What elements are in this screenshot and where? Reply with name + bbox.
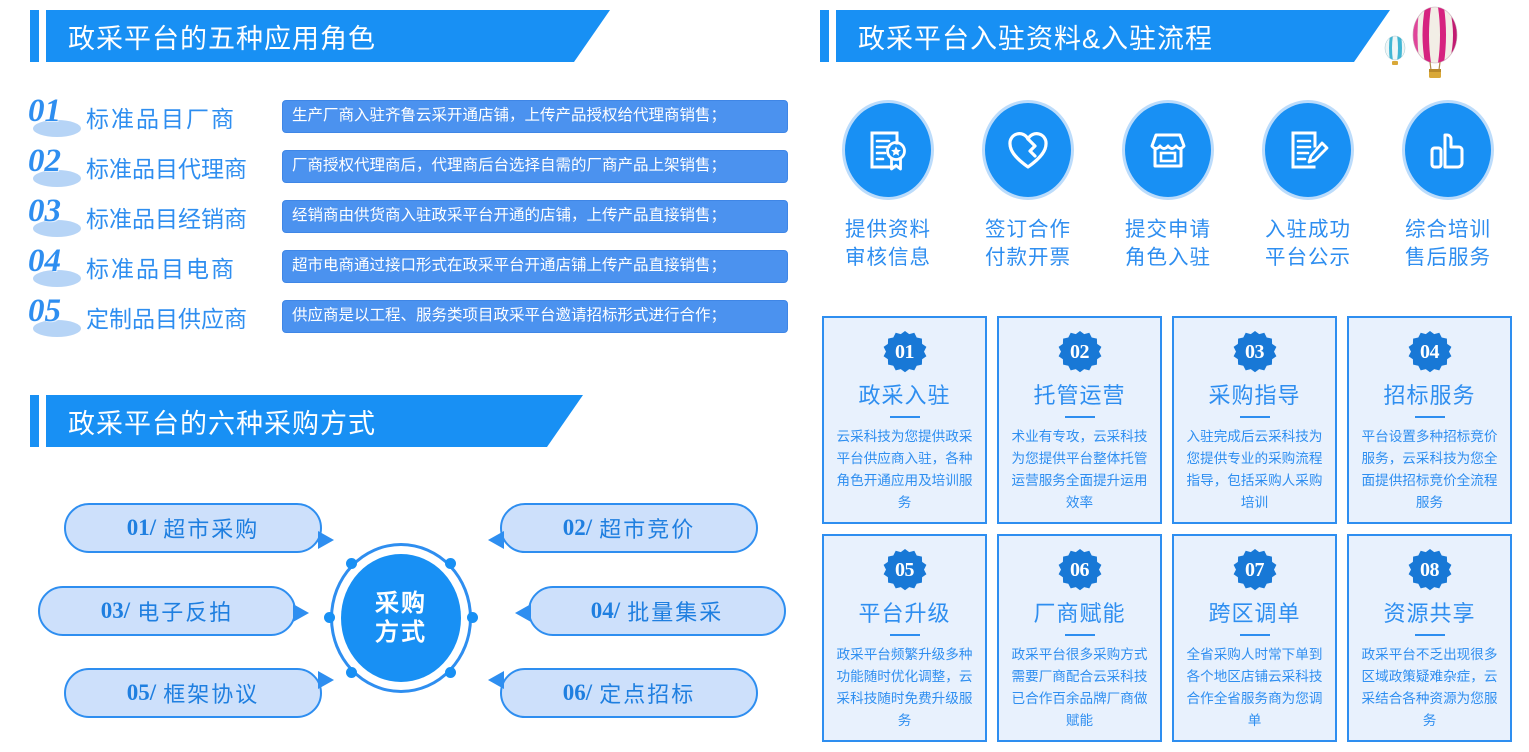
role-number: 02 bbox=[28, 143, 86, 180]
method-number: 03/ bbox=[101, 598, 130, 624]
method-number: 05/ bbox=[127, 680, 156, 706]
header-banner: 政采平台的五种应用角色 bbox=[46, 10, 610, 62]
document-edit-icon bbox=[1284, 126, 1332, 174]
flow-label-line2: 角色入驻 bbox=[1125, 244, 1211, 272]
role-row: 05 定制品目供应商 供应商是以工程、服务类项目政采平台邀请招标形式进行合作； bbox=[28, 292, 788, 341]
methods-hub: 采购 方式 bbox=[330, 543, 472, 693]
card-badge: 01 bbox=[883, 330, 927, 374]
card-divider bbox=[1415, 634, 1445, 636]
header-gap bbox=[829, 10, 836, 62]
method-pill-04[interactable]: 04/ 批量集采 bbox=[528, 586, 786, 636]
card-number: 03 bbox=[1233, 330, 1277, 374]
hub-dot-icon bbox=[324, 612, 335, 623]
certificate-icon bbox=[864, 126, 912, 174]
card-description: 入驻完成后云采科技为您提供专业的采购流程指导，包括采购人采购培训 bbox=[1174, 426, 1335, 514]
service-card[interactable]: 02 托管运营 术业有专攻，云采科技为您提供平台整体托管运营服务全面提升运用效率 bbox=[997, 316, 1162, 524]
hot-air-balloon-decoration bbox=[1378, 4, 1468, 82]
roles-list: 01 标准品目厂商 生产厂商入驻齐鲁云采开通店铺，上传产品授权给代理商销售； 0… bbox=[28, 92, 788, 342]
header-accent-bar bbox=[820, 10, 829, 62]
pill-tail-icon bbox=[293, 604, 309, 622]
role-number-badge: 05 bbox=[28, 294, 86, 340]
method-number: 06/ bbox=[563, 680, 592, 706]
method-label: 电子反拍 bbox=[137, 595, 233, 627]
flow-icon-circle bbox=[982, 100, 1074, 200]
role-number-badge: 03 bbox=[28, 194, 86, 240]
card-number: 01 bbox=[883, 330, 927, 374]
card-badge: 03 bbox=[1233, 330, 1277, 374]
method-pill-05[interactable]: 05/ 框架协议 bbox=[64, 668, 322, 718]
flow-label: 签订合作 付款开票 bbox=[985, 216, 1071, 272]
role-number-badge: 04 bbox=[28, 244, 86, 290]
card-title: 平台升级 bbox=[858, 596, 950, 628]
card-number: 04 bbox=[1408, 330, 1452, 374]
role-description: 生产厂商入驻齐鲁云采开通店铺，上传产品授权给代理商销售； bbox=[282, 100, 788, 133]
flow-step: 入驻成功 平台公示 bbox=[1238, 100, 1378, 272]
card-description: 政采平台很多采购方式需要厂商配合云采科技已合作百余品牌厂商做赋能 bbox=[999, 644, 1160, 732]
hub-dot-icon bbox=[445, 558, 456, 569]
role-number-badge: 02 bbox=[28, 144, 86, 190]
flow-label: 入驻成功 平台公示 bbox=[1265, 216, 1351, 272]
hub-dot-icon bbox=[467, 612, 478, 623]
pill-tail-icon bbox=[515, 604, 531, 622]
flow-icon-circle bbox=[1122, 100, 1214, 200]
flow-label-line1: 提供资料 bbox=[845, 216, 931, 244]
infographic-page: 政采平台的五种应用角色 01 标准品目厂商 生产厂商入驻齐鲁云采开通店铺，上传产… bbox=[0, 0, 1529, 752]
flow-label: 提供资料 审核信息 bbox=[845, 216, 931, 272]
purchase-methods-diagram: 01/ 超市采购 03/ 电子反拍 05/ 框架协议 02/ 超市竞价 04/ … bbox=[0, 483, 790, 733]
header-accent-bar bbox=[30, 10, 39, 62]
section-header-roles: 政采平台的五种应用角色 bbox=[30, 10, 610, 62]
card-title: 厂商赋能 bbox=[1033, 596, 1125, 628]
method-pill-03[interactable]: 03/ 电子反拍 bbox=[38, 586, 296, 636]
hub-dot-icon bbox=[445, 667, 456, 678]
flow-icon-circle bbox=[1402, 100, 1494, 200]
header-banner: 政采平台的六种采购方式 bbox=[46, 395, 583, 447]
shop-icon bbox=[1144, 126, 1192, 174]
flow-step: 提交申请 角色入驻 bbox=[1098, 100, 1238, 272]
card-badge: 07 bbox=[1233, 548, 1277, 592]
section-title-entry: 政采平台入驻资料&入驻流程 bbox=[858, 17, 1213, 56]
role-name: 定制品目供应商 bbox=[86, 300, 282, 334]
card-title: 政采入驻 bbox=[858, 378, 950, 410]
card-badge: 02 bbox=[1058, 330, 1102, 374]
section-header-entry: 政采平台入驻资料&入驻流程 bbox=[820, 10, 1390, 62]
card-divider bbox=[1065, 634, 1095, 636]
hub-dot-icon bbox=[346, 667, 357, 678]
method-number: 04/ bbox=[591, 598, 620, 624]
service-card[interactable]: 05 平台升级 政采平台频繁升级多种功能随时优化调整，云采科技随时免费升级服务 bbox=[822, 534, 987, 742]
role-number: 04 bbox=[28, 243, 86, 280]
pill-tail-icon bbox=[488, 531, 504, 549]
method-label: 定点招标 bbox=[599, 677, 695, 709]
flow-icon-circle bbox=[842, 100, 934, 200]
role-description: 厂商授权代理商后，代理商后台选择自需的厂商产品上架销售； bbox=[282, 150, 788, 183]
card-badge: 05 bbox=[883, 548, 927, 592]
card-divider bbox=[1240, 416, 1270, 418]
flow-label-line1: 签订合作 bbox=[985, 216, 1071, 244]
header-gap bbox=[39, 10, 46, 62]
role-name: 标准品目电商 bbox=[86, 250, 282, 284]
service-cards-grid: 01 政采入驻 云采科技为您提供政采平台供应商入驻，各种角色开通应用及培训服务 … bbox=[822, 316, 1512, 752]
balloon-large-icon bbox=[1413, 7, 1458, 78]
card-description: 政采平台频繁升级多种功能随时优化调整，云采科技随时免费升级服务 bbox=[824, 644, 985, 732]
section-header-methods: 政采平台的六种采购方式 bbox=[30, 395, 583, 447]
service-card[interactable]: 07 跨区调单 全省采购人时常下单到各个地区店铺云采科技合作全省服务商为您调单 bbox=[1172, 534, 1337, 742]
card-divider bbox=[890, 634, 920, 636]
hub-line-2: 方式 bbox=[375, 618, 427, 647]
flow-label: 综合培训 售后服务 bbox=[1405, 216, 1491, 272]
card-divider bbox=[1065, 416, 1095, 418]
service-card[interactable]: 04 招标服务 平台设置多种招标竞价服务，云采科技为您全面提供招标竞价全流程服务 bbox=[1347, 316, 1512, 524]
hub-core: 采购 方式 bbox=[341, 554, 461, 682]
section-title-methods: 政采平台的六种采购方式 bbox=[68, 402, 376, 441]
thumbs-up-icon bbox=[1424, 126, 1472, 174]
method-pill-06[interactable]: 06/ 定点招标 bbox=[500, 668, 758, 718]
method-label: 超市采购 bbox=[163, 512, 259, 544]
card-divider bbox=[890, 416, 920, 418]
method-number: 01/ bbox=[127, 515, 156, 541]
flow-label-line1: 入驻成功 bbox=[1265, 216, 1351, 244]
card-badge: 08 bbox=[1408, 548, 1452, 592]
service-card[interactable]: 03 采购指导 入驻完成后云采科技为您提供专业的采购流程指导，包括采购人采购培训 bbox=[1172, 316, 1337, 524]
card-title: 招标服务 bbox=[1383, 378, 1475, 410]
flow-icon-circle bbox=[1262, 100, 1354, 200]
flow-label-line2: 售后服务 bbox=[1405, 244, 1491, 272]
method-label: 超市竞价 bbox=[599, 512, 695, 544]
role-description: 超市电商通过接口形式在政采平台开通店铺上传产品直接销售； bbox=[282, 250, 788, 283]
role-description: 经销商由供货商入驻政采平台开通的店铺，上传产品直接销售； bbox=[282, 200, 788, 233]
role-description: 供应商是以工程、服务类项目政采平台邀请招标形式进行合作； bbox=[282, 300, 788, 333]
role-row: 01 标准品目厂商 生产厂商入驻齐鲁云采开通店铺，上传产品授权给代理商销售； bbox=[28, 92, 788, 141]
card-title: 采购指导 bbox=[1208, 378, 1300, 410]
role-number-badge: 01 bbox=[28, 94, 86, 140]
hub-line-1: 采购 bbox=[375, 589, 427, 618]
card-description: 云采科技为您提供政采平台供应商入驻，各种角色开通应用及培训服务 bbox=[824, 426, 985, 514]
handshake-heart-icon bbox=[1004, 126, 1052, 174]
header-accent-bar bbox=[30, 395, 39, 447]
card-divider bbox=[1415, 416, 1445, 418]
hub-dot-icon bbox=[346, 558, 357, 569]
card-number: 08 bbox=[1408, 548, 1452, 592]
card-number: 05 bbox=[883, 548, 927, 592]
card-number: 06 bbox=[1058, 548, 1102, 592]
entry-flow-steps: 提供资料 审核信息 签订合作 付款开票 bbox=[818, 100, 1518, 272]
flow-label: 提交申请 角色入驻 bbox=[1125, 216, 1211, 272]
service-card[interactable]: 06 厂商赋能 政采平台很多采购方式需要厂商配合云采科技已合作百余品牌厂商做赋能 bbox=[997, 534, 1162, 742]
card-row: 05 平台升级 政采平台频繁升级多种功能随时优化调整，云采科技随时免费升级服务 … bbox=[822, 534, 1512, 742]
card-badge: 06 bbox=[1058, 548, 1102, 592]
method-label: 批量集采 bbox=[627, 595, 723, 627]
flow-label-line1: 综合培训 bbox=[1405, 216, 1491, 244]
role-row: 02 标准品目代理商 厂商授权代理商后，代理商后台选择自需的厂商产品上架销售； bbox=[28, 142, 788, 191]
card-description: 全省采购人时常下单到各个地区店铺云采科技合作全省服务商为您调单 bbox=[1174, 644, 1335, 732]
card-row: 01 政采入驻 云采科技为您提供政采平台供应商入驻，各种角色开通应用及培训服务 … bbox=[822, 316, 1512, 524]
card-divider bbox=[1240, 634, 1270, 636]
section-title-roles: 政采平台的五种应用角色 bbox=[68, 17, 376, 56]
balloon-small-icon bbox=[1385, 35, 1408, 65]
role-row: 04 标准品目电商 超市电商通过接口形式在政采平台开通店铺上传产品直接销售； bbox=[28, 242, 788, 291]
card-number: 07 bbox=[1233, 548, 1277, 592]
flow-step: 提供资料 审核信息 bbox=[818, 100, 958, 272]
role-name: 标准品目代理商 bbox=[86, 150, 282, 184]
card-badge: 04 bbox=[1408, 330, 1452, 374]
method-label: 框架协议 bbox=[163, 677, 259, 709]
flow-step: 签订合作 付款开票 bbox=[958, 100, 1098, 272]
card-title: 托管运营 bbox=[1033, 378, 1125, 410]
flow-label-line2: 审核信息 bbox=[845, 244, 931, 272]
role-name: 标准品目厂商 bbox=[86, 100, 282, 134]
service-card[interactable]: 01 政采入驻 云采科技为您提供政采平台供应商入驻，各种角色开通应用及培训服务 bbox=[822, 316, 987, 524]
card-description: 术业有专攻，云采科技为您提供平台整体托管运营服务全面提升运用效率 bbox=[999, 426, 1160, 514]
flow-label-line2: 付款开票 bbox=[985, 244, 1071, 272]
header-gap bbox=[39, 395, 46, 447]
card-title: 跨区调单 bbox=[1208, 596, 1300, 628]
role-number: 03 bbox=[28, 193, 86, 230]
card-description: 平台设置多种招标竞价服务，云采科技为您全面提供招标竞价全流程服务 bbox=[1349, 426, 1510, 514]
pill-tail-icon bbox=[488, 671, 504, 689]
flow-step: 综合培训 售后服务 bbox=[1378, 100, 1518, 272]
method-number: 02/ bbox=[563, 515, 592, 541]
method-pill-02[interactable]: 02/ 超市竞价 bbox=[500, 503, 758, 553]
card-description: 政采平台不乏出现很多区域政策疑难杂症，云采结合各种资源为您服务 bbox=[1349, 644, 1510, 732]
header-banner: 政采平台入驻资料&入驻流程 bbox=[836, 10, 1390, 62]
method-pill-01[interactable]: 01/ 超市采购 bbox=[64, 503, 322, 553]
flow-label-line2: 平台公示 bbox=[1265, 244, 1351, 272]
flow-label-line1: 提交申请 bbox=[1125, 216, 1211, 244]
role-number: 01 bbox=[28, 93, 86, 130]
card-title: 资源共享 bbox=[1383, 596, 1475, 628]
role-number: 05 bbox=[28, 293, 86, 330]
card-number: 02 bbox=[1058, 330, 1102, 374]
role-row: 03 标准品目经销商 经销商由供货商入驻政采平台开通的店铺，上传产品直接销售； bbox=[28, 192, 788, 241]
service-card[interactable]: 08 资源共享 政采平台不乏出现很多区域政策疑难杂症，云采结合各种资源为您服务 bbox=[1347, 534, 1512, 742]
role-name: 标准品目经销商 bbox=[86, 200, 282, 234]
